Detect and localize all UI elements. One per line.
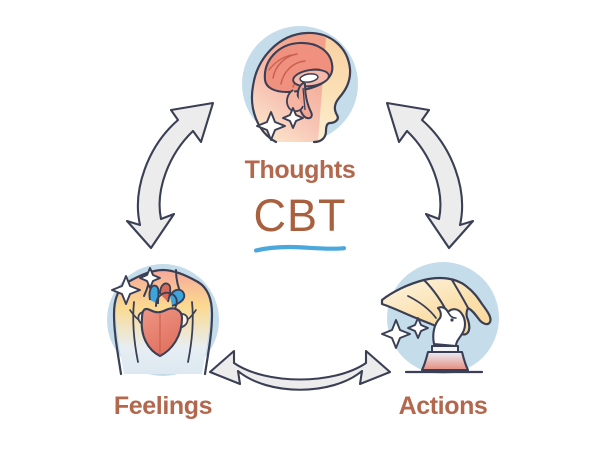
cbt-diagram: Thoughts bbox=[0, 0, 600, 455]
node-actions[interactable]: Actions bbox=[368, 256, 518, 419]
node-label-thoughts: Thoughts bbox=[225, 158, 375, 183]
cbt-acronym: CBT bbox=[230, 193, 370, 238]
arrow-thoughts-actions bbox=[387, 103, 473, 248]
center-title-block: CBT bbox=[230, 193, 370, 253]
node-label-feelings: Feelings bbox=[88, 394, 238, 419]
cbt-underline bbox=[254, 244, 346, 253]
arrow-thoughts-feelings bbox=[127, 103, 213, 248]
node-label-actions: Actions bbox=[368, 394, 518, 419]
torso-heart-icon bbox=[98, 256, 228, 386]
head-brain-icon bbox=[235, 22, 365, 152]
hand-chess-knight-icon bbox=[378, 256, 508, 386]
node-thoughts[interactable]: Thoughts bbox=[225, 22, 375, 183]
node-feelings[interactable]: Feelings bbox=[88, 256, 238, 419]
